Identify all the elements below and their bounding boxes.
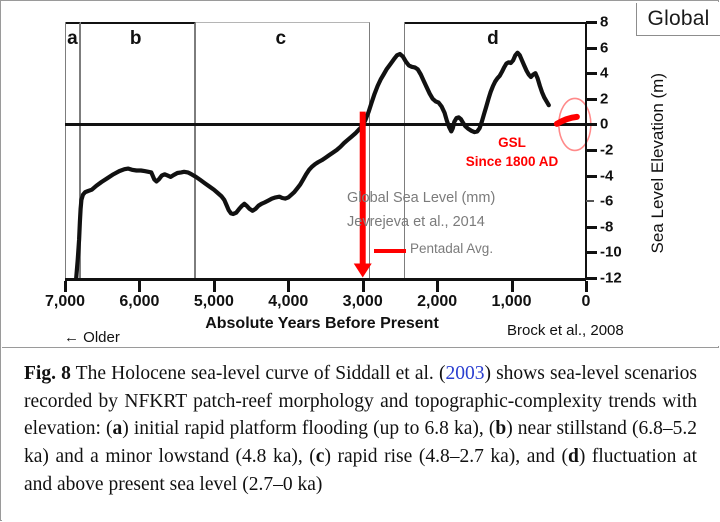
y-tick-label: -2 xyxy=(600,142,613,159)
chart-panel: Global abcd 86420-2-4-6-8-10-12 Sea Leve… xyxy=(2,2,719,346)
y-tick-label: -8 xyxy=(600,218,613,235)
y-tick-label: 4 xyxy=(600,65,608,82)
y-tick-mark xyxy=(586,251,597,254)
gsl-label-line2: Since 1800 AD xyxy=(457,154,567,169)
x-tick-mark xyxy=(436,281,439,292)
y-tick-mark xyxy=(586,175,597,178)
x-tick-label: 1,000 xyxy=(492,293,532,311)
red-arrow-head xyxy=(354,263,372,277)
source-label-line2: Jevrejeva et al., 2014 xyxy=(347,214,485,230)
gsl-label-line1: GSL xyxy=(457,135,567,150)
caption-bold-d: d xyxy=(568,446,579,467)
y-tick-label: -12 xyxy=(600,270,622,287)
y-tick-mark xyxy=(586,98,597,101)
caption-text-3: ) initial rapid platform flooding (up to… xyxy=(122,418,495,439)
y-tick-mark xyxy=(586,72,597,75)
y-tick-label: 8 xyxy=(600,14,608,31)
x-tick-mark xyxy=(362,281,365,292)
y-axis-title: Sea Level Elevation (m) xyxy=(646,38,670,288)
x-tick-mark xyxy=(213,281,216,292)
x-tick-mark xyxy=(138,281,141,292)
x-tick-label: 3,000 xyxy=(343,293,383,311)
y-tick-label: -10 xyxy=(600,244,622,261)
caption-text-5: ) rapid rise (4.8–2.7 ka), and ( xyxy=(324,446,568,467)
x-tick-label: 0 xyxy=(582,293,591,311)
y-tick-mark xyxy=(586,47,597,50)
figure-frame: Global abcd 86420-2-4-6-8-10-12 Sea Leve… xyxy=(0,0,719,521)
y-tick-mark xyxy=(586,277,597,280)
caption-text-1: The Holocene sea-level curve of Siddall … xyxy=(71,363,446,384)
y-tick-mark xyxy=(586,200,594,202)
x-tick-mark xyxy=(64,281,67,292)
y-tick-label: -6 xyxy=(600,193,613,210)
caption-bold-b: b xyxy=(495,418,506,439)
caption-fig-label: Fig. 8 xyxy=(24,363,71,384)
x-tick-label: 6,000 xyxy=(119,293,159,311)
figure-credit: Brock et al., 2008 xyxy=(507,322,624,339)
x-axis-line xyxy=(65,278,586,281)
x-tick-mark xyxy=(287,281,290,292)
x-tick-mark xyxy=(511,281,514,292)
x-tick-label: 7,000 xyxy=(45,293,85,311)
figure-caption: Fig. 8 The Holocene sea-level curve of S… xyxy=(2,347,719,521)
x-tick-label: 4,000 xyxy=(268,293,308,311)
y-tick-label: 2 xyxy=(600,90,608,107)
y-tick-mark xyxy=(586,149,597,152)
y-tick-label: 6 xyxy=(600,39,608,56)
y-tick-mark xyxy=(586,226,597,229)
x-tick-label: 2,000 xyxy=(417,293,457,311)
source-label-line1: Global Sea Level (mm) xyxy=(347,190,495,206)
x-tick-label: 5,000 xyxy=(194,293,234,311)
y-tick-mark xyxy=(586,123,597,126)
pentadal-avg-legend-swatch xyxy=(374,249,406,253)
pentadal-avg-legend-label: Pentadal Avg. xyxy=(410,241,493,256)
x-tick-mark xyxy=(585,281,588,292)
y-tick-mark xyxy=(586,21,597,24)
older-direction-label: ← Older xyxy=(64,329,120,346)
caption-citation-link[interactable]: 2003 xyxy=(445,363,484,384)
caption-bold-a: a xyxy=(113,418,123,439)
y-tick-label: -4 xyxy=(600,167,613,184)
y-tick-label: 0 xyxy=(600,116,608,133)
